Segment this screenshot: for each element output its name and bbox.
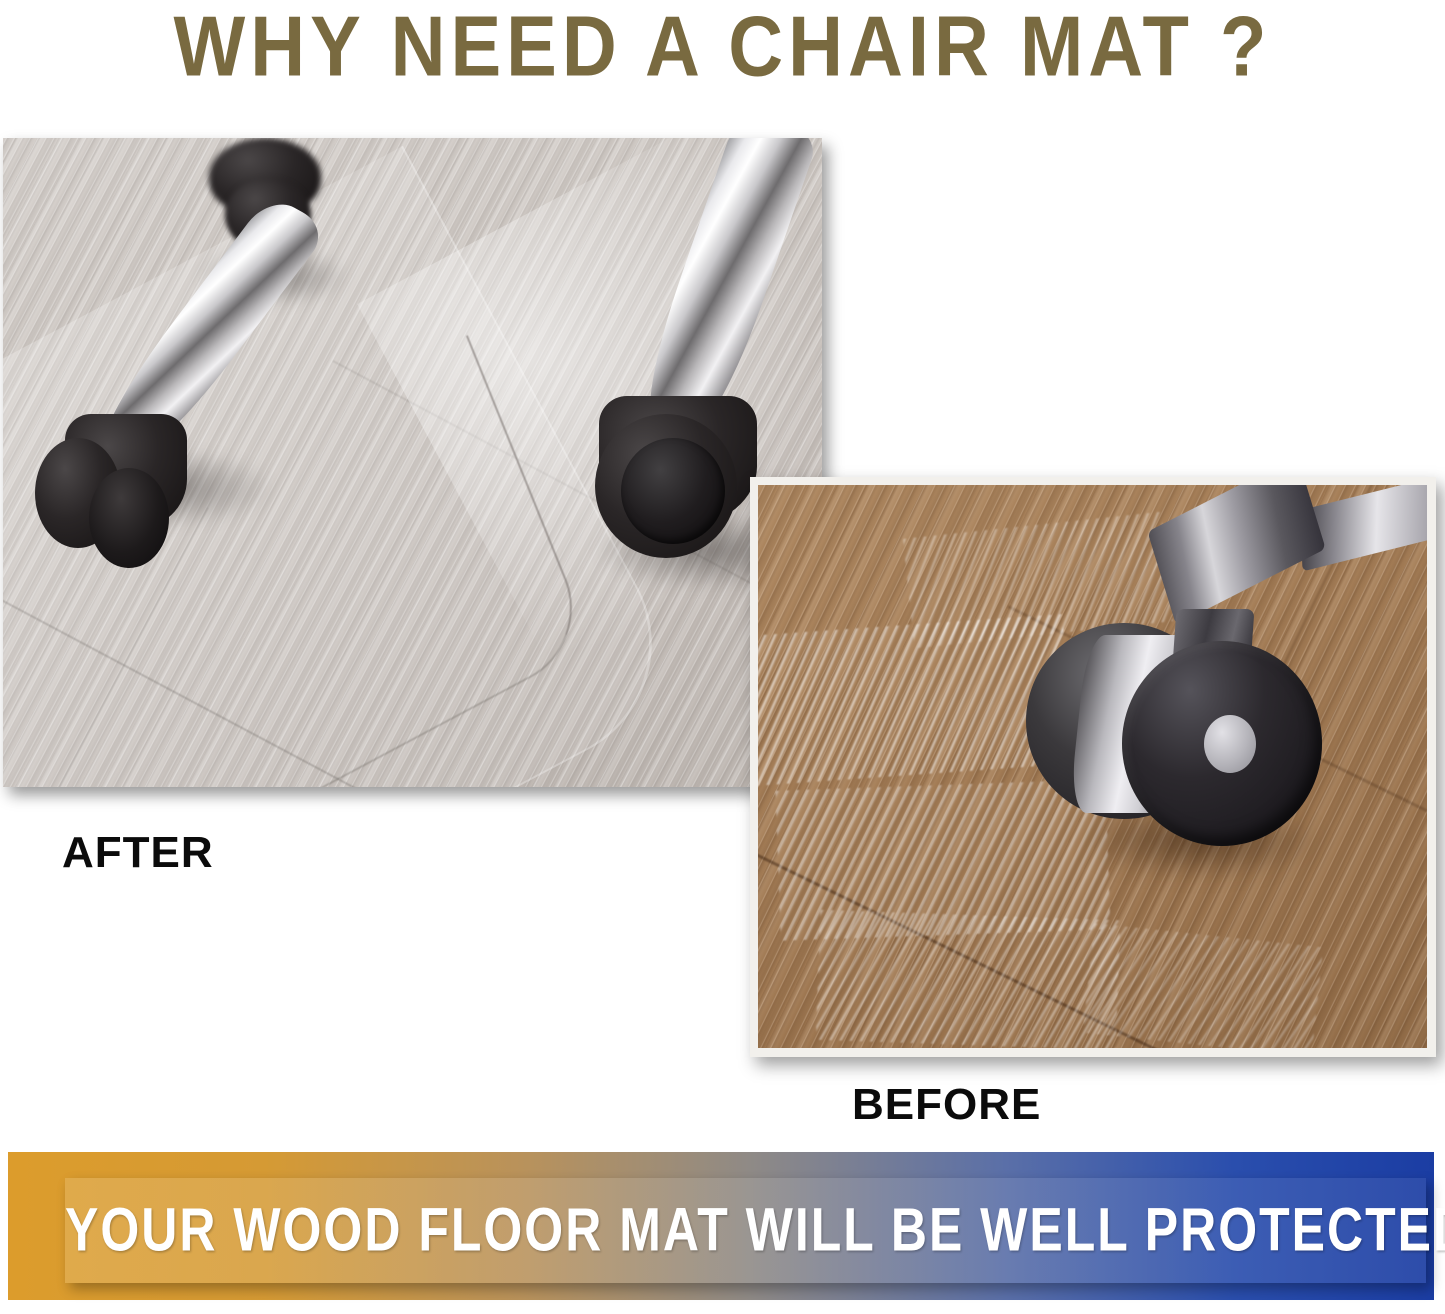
- floor-scratch-marks: [816, 910, 1120, 1048]
- chair-caster-wheel: [1026, 615, 1326, 905]
- before-photo: [750, 477, 1436, 1057]
- caster-wheel-hub: [621, 438, 725, 544]
- after-photo: [3, 138, 822, 787]
- bottom-banner: YOUR WOOD FLOOR MAT WILL BE WELL PROTECT…: [8, 1152, 1434, 1300]
- page-title: WHY NEED A CHAIR MAT ?: [0, 0, 1445, 99]
- after-label: AFTER: [62, 828, 214, 878]
- caster-wheel: [89, 468, 169, 568]
- caster-axle-cap: [1204, 715, 1256, 773]
- comparison-photos: AFTER BEFORE: [0, 110, 1445, 1110]
- banner-text: YOUR WOOD FLOOR MAT WILL BE WELL PROTECT…: [65, 1166, 1426, 1294]
- before-label: BEFORE: [852, 1080, 1041, 1130]
- banner-inner-panel: YOUR WOOD FLOOR MAT WILL BE WELL PROTECT…: [65, 1178, 1426, 1283]
